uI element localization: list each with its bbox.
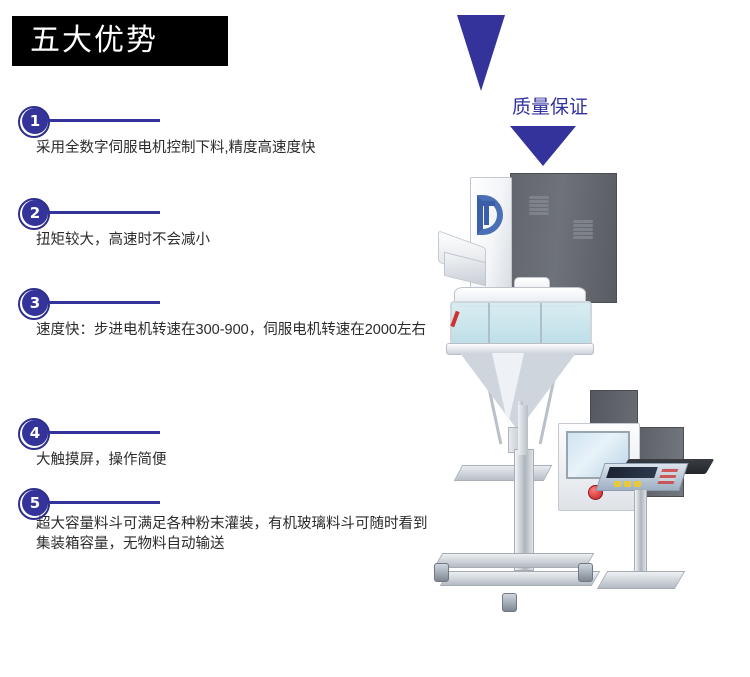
machine-work-tray: [454, 465, 553, 481]
feature-list: 1 采用全数字伺服电机控制下料,精度高速度快 2 扭矩较大，高速时不会减小 3 …: [0, 0, 445, 677]
feature-badge-row: 3: [18, 288, 438, 320]
badge-rule: [42, 431, 160, 434]
machine-base-bar: [440, 571, 601, 586]
hopper-rib: [540, 303, 542, 347]
caster-wheel-icon: [578, 563, 593, 582]
vent-slots-icon: [529, 196, 549, 199]
feature-text: 采用全数字伺服电机控制下料,精度高速度快: [36, 138, 436, 158]
hopper-rib: [488, 303, 490, 347]
quality-funnel-graphic: 质量保证: [450, 0, 650, 170]
scale-button[interactable]: [624, 481, 631, 487]
scale-button[interactable]: [614, 481, 621, 487]
badge-rule: [42, 211, 160, 214]
feature-badge-row: 1: [18, 106, 438, 138]
brand-logo-letter-icon: [484, 201, 489, 225]
feature-text: 扭矩较大，高速时不会减小: [36, 230, 436, 250]
vent-slots-icon: [573, 220, 593, 223]
caster-wheel-icon: [502, 593, 517, 612]
badge-rule: [42, 301, 160, 304]
feature-number-badge: 1: [22, 108, 48, 134]
feature-number-badge: 4: [22, 420, 48, 446]
scale-stand-base: [597, 571, 685, 589]
feature-badge-row: 4: [18, 418, 438, 450]
caster-wheel-icon: [434, 563, 449, 582]
scale-button[interactable]: [634, 481, 641, 487]
packing-machine-illustration: [430, 165, 730, 635]
scale-display: [606, 467, 658, 478]
feature-number-badge: 5: [22, 490, 48, 516]
feature-badge-row: 2: [18, 198, 438, 230]
feature-number-badge: 3: [22, 290, 48, 316]
feature-text: 大触摸屏，操作简便: [36, 450, 436, 470]
feature-text: 超大容量料斗可满足各种粉末灌装，有机玻璃料斗可随时看到集装箱容量，无物料自动输送: [36, 514, 436, 554]
machine-base-bar: [434, 553, 595, 568]
funnel-label: 质量保证: [450, 96, 650, 120]
funnel-trapezoid-icon: [457, 15, 505, 91]
feature-text: 速度快：步进电机转速在300-900，伺服电机转速在2000左右: [36, 320, 436, 340]
machine-support-column-upper: [518, 405, 528, 455]
badge-rule: [42, 119, 160, 122]
badge-rule: [42, 501, 160, 504]
funnel-tip-icon: [510, 126, 576, 166]
feature-number-badge: 2: [22, 200, 48, 226]
scale-stand-post: [634, 489, 647, 577]
